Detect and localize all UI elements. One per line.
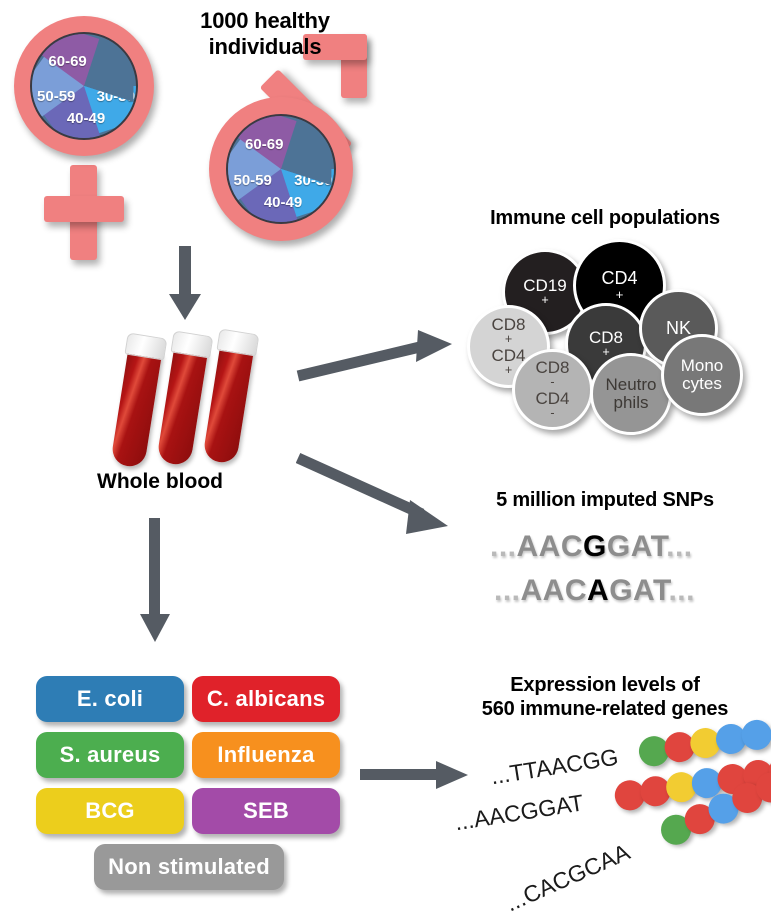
stimuli-panel: E. coliC. albicansS. aureusInfluenzaBCGS…	[36, 676, 346, 896]
text-line: 560 immune-related genes	[482, 698, 728, 720]
snp-variant: A	[587, 574, 609, 607]
cohort-title: 1000 healthyindividuals	[160, 8, 370, 60]
immune-cell-populations-title: Immune cell populations	[455, 207, 755, 231]
superscript: +	[589, 346, 623, 359]
immune-cell-label: CD19+	[523, 277, 566, 308]
cell-label-line: CD4-	[535, 390, 569, 421]
cell-label-line: phils	[605, 394, 656, 412]
whole-blood-label: Whole blood	[60, 470, 260, 494]
rna-strands: ...TTAACGG...AACGGAT...CACGCAA	[455, 720, 771, 920]
figure-canvas: 20-2930-3940-4950-5960-69 20-2930-3940-4…	[0, 0, 771, 922]
immune-cell-monocytes: Monocytes	[661, 334, 743, 416]
blood-tube-1	[110, 333, 164, 469]
stimulus-label: C. albicans	[207, 686, 325, 712]
snp-right: GAT	[609, 574, 668, 607]
female-cohort-pie: 20-2930-3940-4950-5960-69	[30, 32, 138, 140]
immune-cell-label: Neutrophils	[605, 376, 656, 411]
pie-label-40-49: 40-49	[249, 194, 317, 211]
snp-suffix: ...	[666, 530, 693, 563]
stimulus-e-coli[interactable]: E. coli	[36, 676, 184, 722]
snps-title: 5 million imputed SNPs	[455, 489, 755, 513]
blood-tube-2-body	[156, 345, 208, 467]
snp-sequence-1: ...AACGGAT...	[490, 530, 693, 564]
blood-tube-3-body	[202, 343, 254, 465]
stimulus-label: Non stimulated	[108, 854, 270, 880]
snp-prefix: ...	[490, 530, 517, 563]
immune-cell-label: CD8+	[589, 329, 623, 360]
arrow-cohort-to-blood	[165, 246, 205, 327]
superscript: +	[601, 288, 637, 302]
immune-cell-label: CD4+	[601, 269, 637, 302]
immune-cell-nk: NK	[639, 289, 718, 368]
cell-label-line: cytes	[681, 375, 724, 393]
superscript: -	[535, 376, 569, 389]
stimulus-label: S. aureus	[60, 742, 161, 768]
snp-variant: G	[583, 530, 607, 563]
cell-label-line: CD8-	[535, 359, 569, 390]
immune-cell-cd8-cd4: CD8-CD4-	[512, 349, 593, 430]
stimulus-label: E. coli	[77, 686, 143, 712]
cell-label-line: CD8+	[589, 329, 623, 360]
male-cohort-pie: 20-2930-3940-4950-5960-69	[226, 114, 336, 224]
stimulus-s-aureus[interactable]: S. aureus	[36, 732, 184, 778]
arrow-blood-to-snps	[296, 452, 456, 547]
expression-title: Expression levels of560 immune-related g…	[455, 674, 755, 721]
immune-cell-cd8: CD8+	[565, 303, 647, 385]
snp-sequence-2: ...AACAGAT...	[494, 574, 695, 608]
cell-label-line: CD19+	[523, 277, 566, 308]
female-symbol-crossbar	[44, 196, 124, 222]
snp-left: AAC	[517, 530, 584, 563]
immune-cell-label: Monocytes	[681, 357, 724, 392]
immune-cell-cd4: CD4+	[573, 239, 666, 332]
immune-cell-label: CD8-CD4-	[535, 359, 569, 421]
cell-label-line: Mono	[681, 357, 724, 375]
superscript: -	[535, 407, 569, 420]
pie-label-60-69: 60-69	[34, 53, 102, 70]
stimulus-influenza[interactable]: Influenza	[192, 732, 340, 778]
stimulus-seb[interactable]: SEB	[192, 788, 340, 834]
text-line: Expression levels of	[510, 674, 699, 696]
arrow-blood-to-immune	[296, 328, 456, 389]
text-line: individuals	[209, 34, 322, 59]
immune-cell-label: NK	[666, 319, 691, 338]
blood-tube-1-body	[110, 347, 162, 469]
immune-cell-neutrophils: Neutrophils	[590, 353, 672, 435]
snp-prefix: ...	[494, 574, 521, 607]
cell-label-line: CD4+	[491, 347, 525, 378]
stimulus-label: SEB	[243, 798, 289, 824]
snp-sequences: ...AACGGAT......AACAGAT...	[490, 530, 760, 618]
snp-right: GAT	[607, 530, 666, 563]
text-line: 1000 healthy	[200, 8, 330, 33]
cell-label-line: Neutro	[605, 376, 656, 394]
arrow-blood-to-stimuli	[135, 518, 175, 649]
stimulus-non-stimulated[interactable]: Non stimulated	[94, 844, 284, 890]
rna-sequence-text: ...CACGCAA	[502, 839, 634, 918]
cell-label-line: NK	[666, 319, 691, 338]
rna-bead-blue	[740, 718, 771, 752]
stimulus-bcg[interactable]: BCG	[36, 788, 184, 834]
pie-label-50-59: 50-59	[226, 172, 287, 189]
pie-label-40-49: 40-49	[52, 110, 120, 127]
immune-cell-cd8-cd4: CD8+CD4+	[467, 305, 550, 388]
stimulus-label: BCG	[85, 798, 135, 824]
immune-cell-label: CD8+CD4+	[491, 316, 525, 378]
cell-label-line: CD8+	[491, 316, 525, 347]
rna-sequence-text: ...AACGGAT	[453, 789, 586, 836]
cell-label-line: CD4+	[601, 269, 637, 302]
immune-cell-cd19: CD19+	[502, 249, 588, 335]
arrow-stimuli-to-expression	[360, 757, 470, 798]
stimulus-c-albicans[interactable]: C. albicans	[192, 676, 340, 722]
snp-left: AAC	[521, 574, 588, 607]
superscript: +	[491, 333, 525, 346]
snp-suffix: ...	[668, 574, 695, 607]
superscript: +	[491, 364, 525, 377]
pie-label-60-69: 60-69	[230, 136, 298, 153]
stimulus-label: Influenza	[217, 742, 314, 768]
superscript: +	[523, 294, 566, 307]
pie-label-50-59: 50-59	[30, 88, 90, 105]
